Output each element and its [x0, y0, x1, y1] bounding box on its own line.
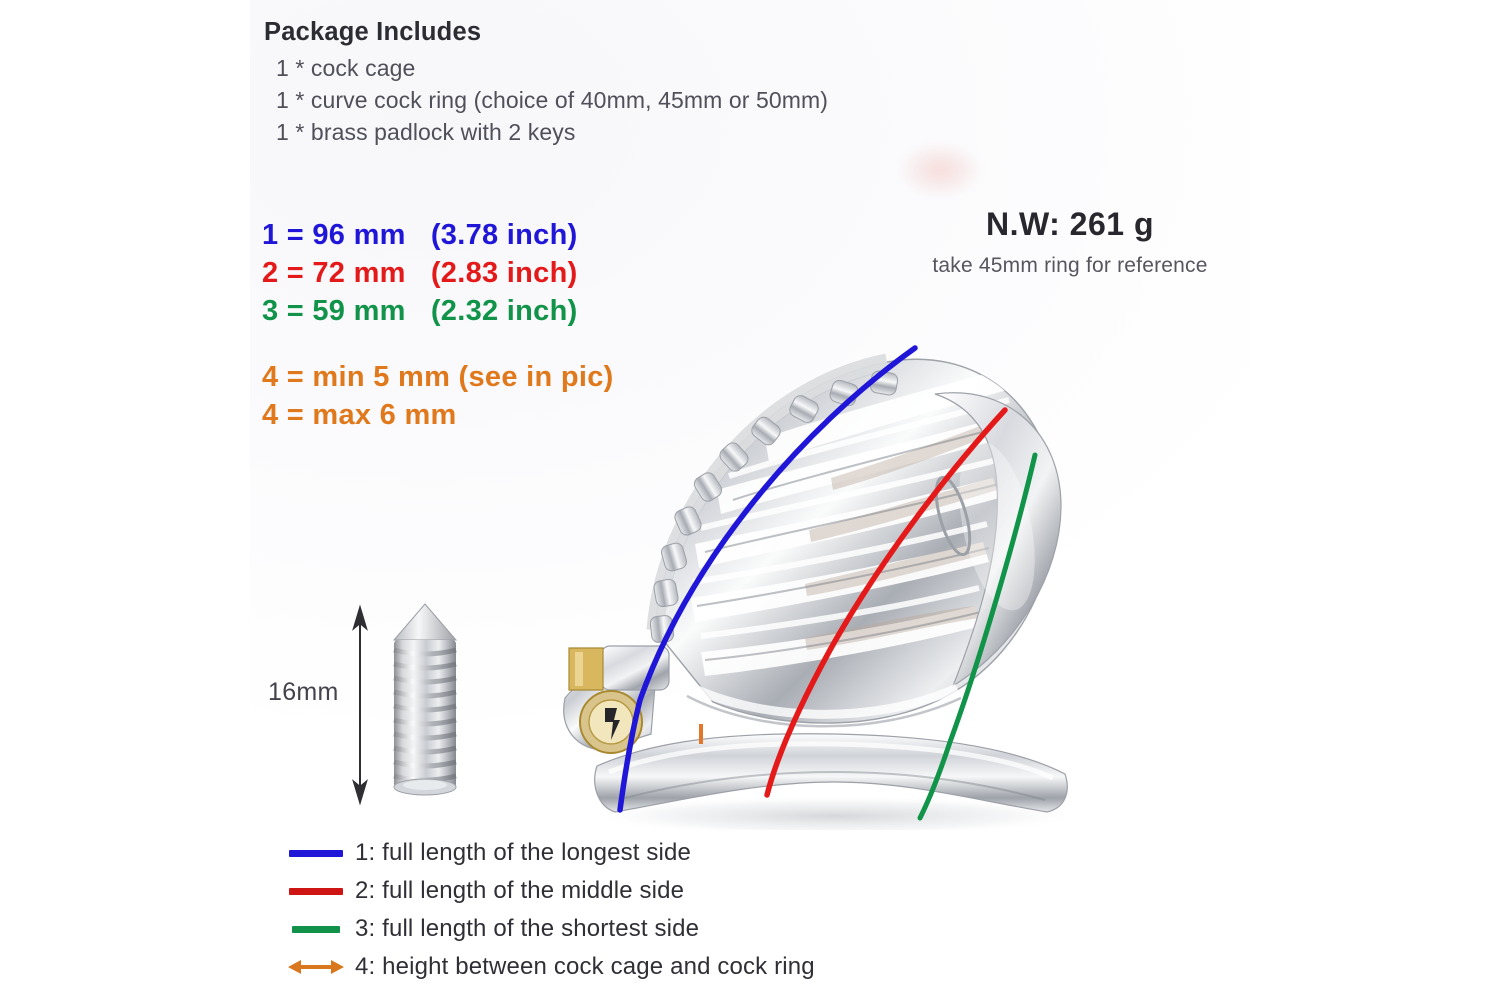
package-includes-block: Package Includes 1 * cock cage 1 * curve…: [264, 18, 904, 148]
measurement-imperial: (2.32 inch): [431, 295, 578, 327]
green-line-icon: [285, 926, 347, 933]
measurement-imperial: (3.78 inch): [431, 219, 578, 251]
infographic-canvas: Package Includes 1 * cock cage 1 * curve…: [0, 0, 1500, 1000]
stainless-steel-cock-cage-icon: [505, 330, 1125, 830]
set-screw-illustration: 16mm: [268, 596, 483, 816]
measurement-metric: 1 = 96 mm: [262, 216, 406, 254]
measurement-metric: 2 = 72 mm: [262, 254, 406, 292]
measurement-imperial: (2.83 inch): [431, 257, 578, 289]
screw-body: [394, 604, 456, 795]
set-screw-icon: [268, 596, 483, 816]
package-includes-heading: Package Includes: [264, 18, 904, 47]
brass-padlock-icon: [569, 648, 603, 690]
legend-label: 1: full length of the longest side: [355, 839, 691, 867]
legend-item-3: 3: full length of the shortest side: [285, 912, 925, 946]
package-item: 1 * curve cock ring (choice of 40mm, 45m…: [276, 84, 904, 116]
lock-assembly: [564, 646, 669, 753]
net-weight-block: N.W: 261 g take 45mm ring for reference: [905, 206, 1235, 278]
orange-double-arrow-icon: [285, 957, 347, 977]
legend-label: 2: full length of the middle side: [355, 877, 684, 905]
red-line-icon: [285, 888, 347, 895]
measurement-row-3: 3 = 59 mm (2.32 inch): [262, 292, 882, 330]
product-photo: [505, 330, 1125, 830]
measurement-row-2: 2 = 72 mm (2.83 inch): [262, 254, 882, 292]
legend-label: 4: height between cock cage and cock rin…: [355, 953, 815, 981]
blue-line-icon: [285, 850, 347, 857]
legend-item-2: 2: full length of the middle side: [285, 874, 925, 908]
net-weight-value: N.W: 261 g: [905, 206, 1235, 243]
package-item: 1 * cock cage: [276, 52, 904, 84]
legend-label: 3: full length of the shortest side: [355, 915, 699, 943]
measurement-row-1: 1 = 96 mm (3.78 inch): [262, 216, 882, 254]
net-weight-note: take 45mm ring for reference: [905, 254, 1235, 278]
legend-item-4: 4: height between cock cage and cock rin…: [285, 950, 925, 984]
dimension-arrow-icon: [354, 608, 366, 802]
legend: 1: full length of the longest side 2: fu…: [285, 836, 925, 988]
package-item: 1 * brass padlock with 2 keys: [276, 116, 904, 148]
measurement-metric: 3 = 59 mm: [262, 292, 406, 330]
legend-item-1: 1: full length of the longest side: [285, 836, 925, 870]
cage-body: [650, 359, 1061, 744]
